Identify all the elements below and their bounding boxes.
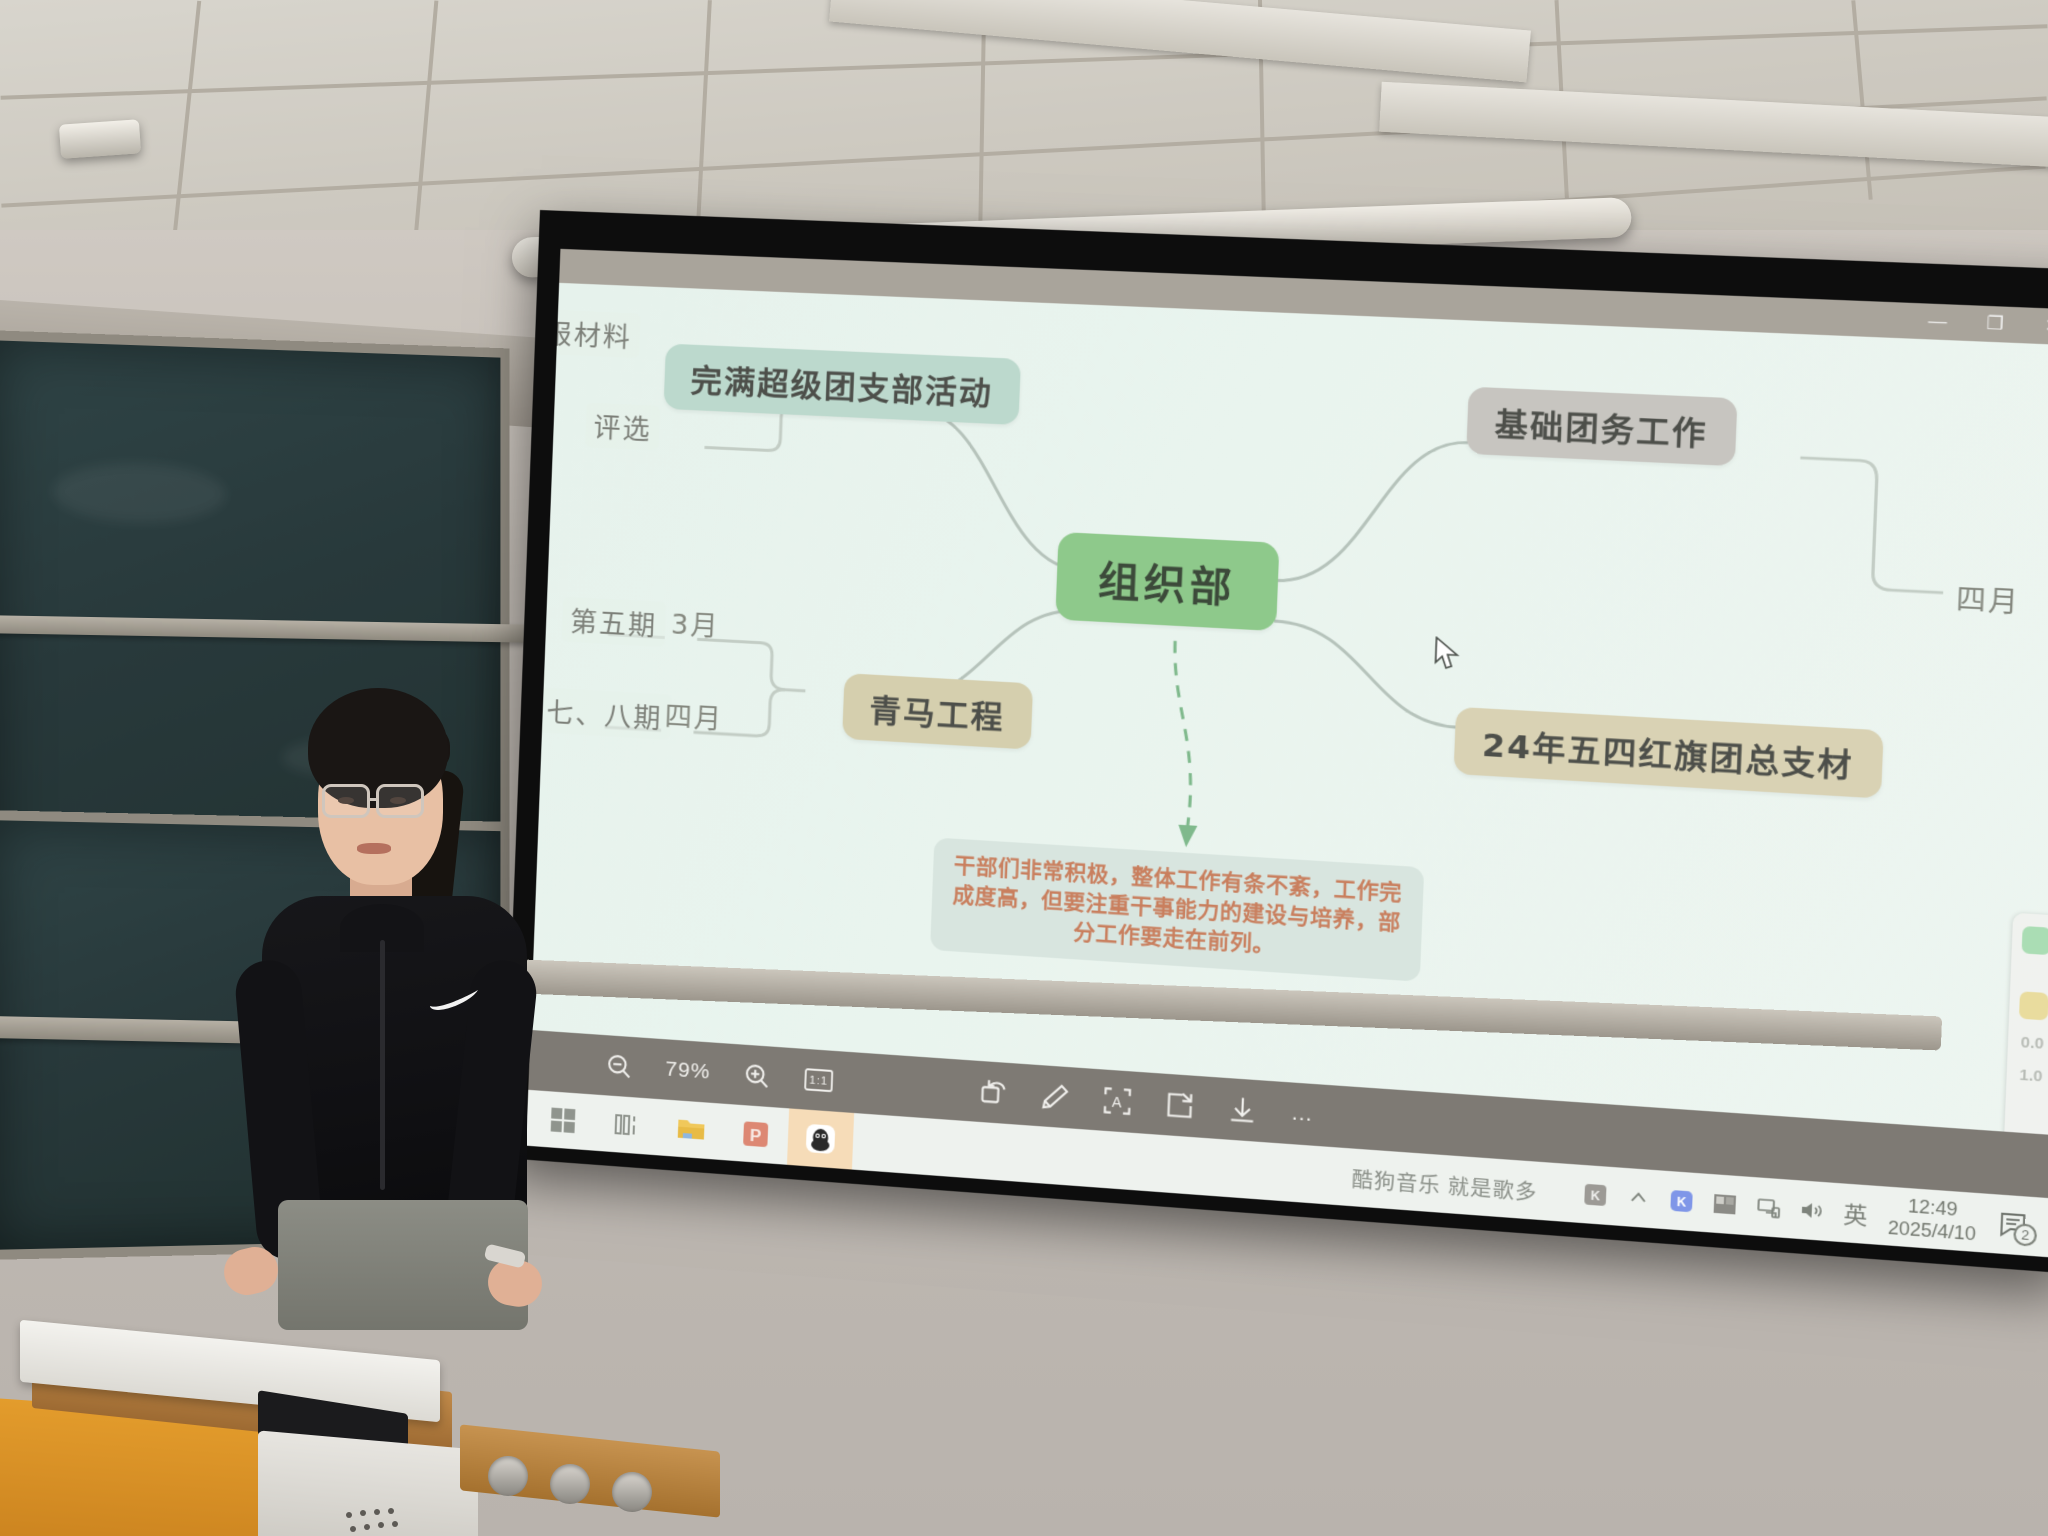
- notification-center-button[interactable]: 2: [1986, 1194, 2041, 1257]
- nike-swoosh-logo: [428, 990, 480, 1010]
- clock-date: 2025/4/10: [1887, 1216, 1976, 1246]
- check-chip-icon[interactable]: [2022, 926, 2048, 955]
- jacket-zipper: [380, 940, 385, 1190]
- ceiling-light: [59, 119, 141, 158]
- ime-indicator[interactable]: 英: [1832, 1183, 1878, 1245]
- svg-text:A: A: [1112, 1093, 1124, 1110]
- node-central[interactable]: 组织部: [1055, 532, 1279, 631]
- task-view-button[interactable]: [594, 1095, 660, 1156]
- network-icon[interactable]: [1745, 1177, 1791, 1239]
- powerpoint-button[interactable]: P: [722, 1104, 789, 1165]
- restore-button[interactable]: ❐: [1965, 305, 2024, 343]
- label-month-march: 3月: [671, 602, 721, 644]
- more-options-button[interactable]: …: [1273, 1081, 1332, 1147]
- lectern-hole: [550, 1464, 590, 1504]
- svg-text:P: P: [750, 1126, 762, 1146]
- volume-icon[interactable]: [1789, 1180, 1835, 1242]
- node-basic-league-work[interactable]: 基础团务工作: [1466, 386, 1737, 466]
- glasses-lens-left: [322, 784, 370, 818]
- lectern: [0, 1330, 710, 1536]
- label-month-april: 四月: [664, 695, 724, 737]
- ocr-text-icon[interactable]: A: [1085, 1068, 1150, 1134]
- show-hidden-icons-chevron[interactable]: [1616, 1167, 1661, 1228]
- qq-button[interactable]: [787, 1108, 854, 1169]
- rotate-icon[interactable]: [961, 1060, 1025, 1125]
- skirt: [278, 1200, 528, 1330]
- kugou-icon[interactable]: K: [1573, 1164, 1618, 1225]
- lectern-hole: [612, 1472, 652, 1512]
- lectern-hole: [488, 1456, 528, 1496]
- app-icon[interactable]: [1702, 1174, 1748, 1235]
- download-icon[interactable]: [1210, 1077, 1275, 1143]
- taskbar-clock[interactable]: 12:49 2025/4/10: [1876, 1192, 1988, 1247]
- actual-size-button[interactable]: 1:1: [786, 1048, 851, 1113]
- file-explorer-button[interactable]: [658, 1099, 725, 1160]
- note-chip-icon[interactable]: [2019, 991, 2048, 1020]
- label-report-material: 报材料: [536, 309, 641, 358]
- desktop: — ❐ ✕: [526, 249, 2048, 1258]
- node-qingma-project[interactable]: 青马工程: [842, 673, 1033, 749]
- minimize-button[interactable]: —: [1908, 303, 1967, 341]
- ceiling-beam: [1379, 82, 2048, 169]
- svg-text:K: K: [1676, 1195, 1686, 1210]
- presenter-person: [200, 660, 560, 1300]
- label-month-april-right: 四月: [1955, 577, 2021, 621]
- glasses-bridge: [370, 798, 378, 801]
- svg-text:1:1: 1:1: [809, 1074, 828, 1087]
- clock-time: 12:49: [1907, 1194, 1957, 1221]
- zoom-out-icon[interactable]: [588, 1034, 650, 1098]
- pen-icon[interactable]: [1023, 1064, 1087, 1129]
- label-selection: 评选: [585, 402, 661, 451]
- share-icon[interactable]: [1147, 1073, 1212, 1139]
- classroom-scene: — ❐ ✕: [0, 0, 2048, 1536]
- projection-screen-assembly: — ❐ ✕: [512, 188, 2048, 1318]
- ceiling-beam: [829, 0, 1531, 82]
- lips: [357, 843, 391, 854]
- notification-badge: 2: [2013, 1223, 2037, 1247]
- zoom-level-label: 79%: [648, 1038, 728, 1104]
- projection-screen: — ❐ ✕: [504, 210, 2048, 1273]
- image-viewer-window: — ❐ ✕: [526, 249, 2048, 1258]
- zoom-in-icon[interactable]: [726, 1044, 789, 1109]
- widget-value-one: 1.0: [2019, 1066, 2043, 1085]
- widget-value-zero: 0.0: [2020, 1034, 2044, 1053]
- lectern-speaker-grille: [342, 1508, 402, 1536]
- kugou-blue-icon[interactable]: K: [1659, 1170, 1705, 1231]
- glasses-lens-right: [376, 784, 424, 818]
- svg-text:K: K: [1590, 1188, 1600, 1203]
- label-phase-five: 第五期: [561, 596, 666, 647]
- kugou-music-label: 酷狗音乐 就是歌多: [1351, 1162, 1574, 1208]
- close-button[interactable]: ✕: [2023, 307, 2048, 345]
